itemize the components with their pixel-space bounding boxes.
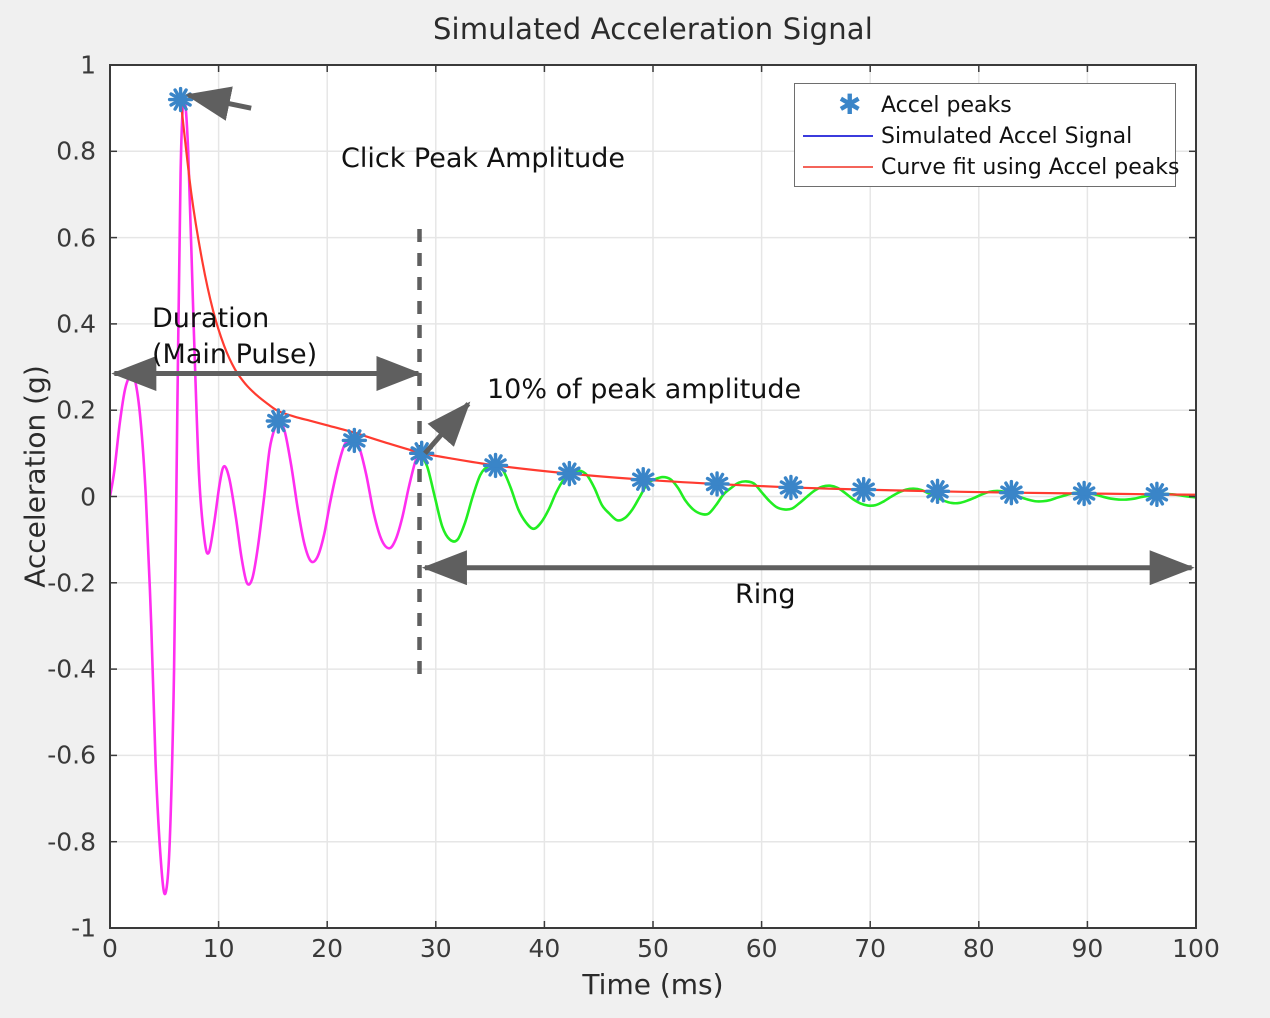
legend-label-accel-peaks: Accel peaks [881, 93, 1012, 118]
legend-label-simulated-signal: Simulated Accel Signal [881, 124, 1132, 149]
legend[interactable]: ✱ Accel peaks Simulated Accel Signal Cur… [794, 83, 1176, 187]
legend-line-swatch-simulated [795, 121, 881, 151]
legend-item-simulated-signal[interactable]: Simulated Accel Signal [795, 121, 1132, 151]
legend-item-curve-fit[interactable]: Curve fit using Accel peaks [795, 152, 1179, 182]
annotation-click-peak-amplitude: Click Peak Amplitude [341, 143, 625, 174]
legend-asterisk-icon: ✱ [795, 90, 881, 120]
line-icon [803, 135, 873, 137]
annotation-ten-percent: 10% of peak amplitude [487, 374, 801, 405]
line-icon [803, 166, 873, 168]
legend-line-swatch-curvefit [795, 152, 881, 182]
legend-label-curve-fit: Curve fit using Accel peaks [881, 155, 1179, 180]
legend-item-accel-peaks[interactable]: ✱ Accel peaks [795, 90, 1012, 120]
annotation-duration-line1: Duration [152, 303, 269, 334]
annotation-ring: Ring [735, 579, 796, 610]
annotation-duration-line2: (Main Pulse) [152, 339, 317, 370]
figure-canvas: Simulated Acceleration Signal Accelerati… [0, 0, 1270, 1018]
